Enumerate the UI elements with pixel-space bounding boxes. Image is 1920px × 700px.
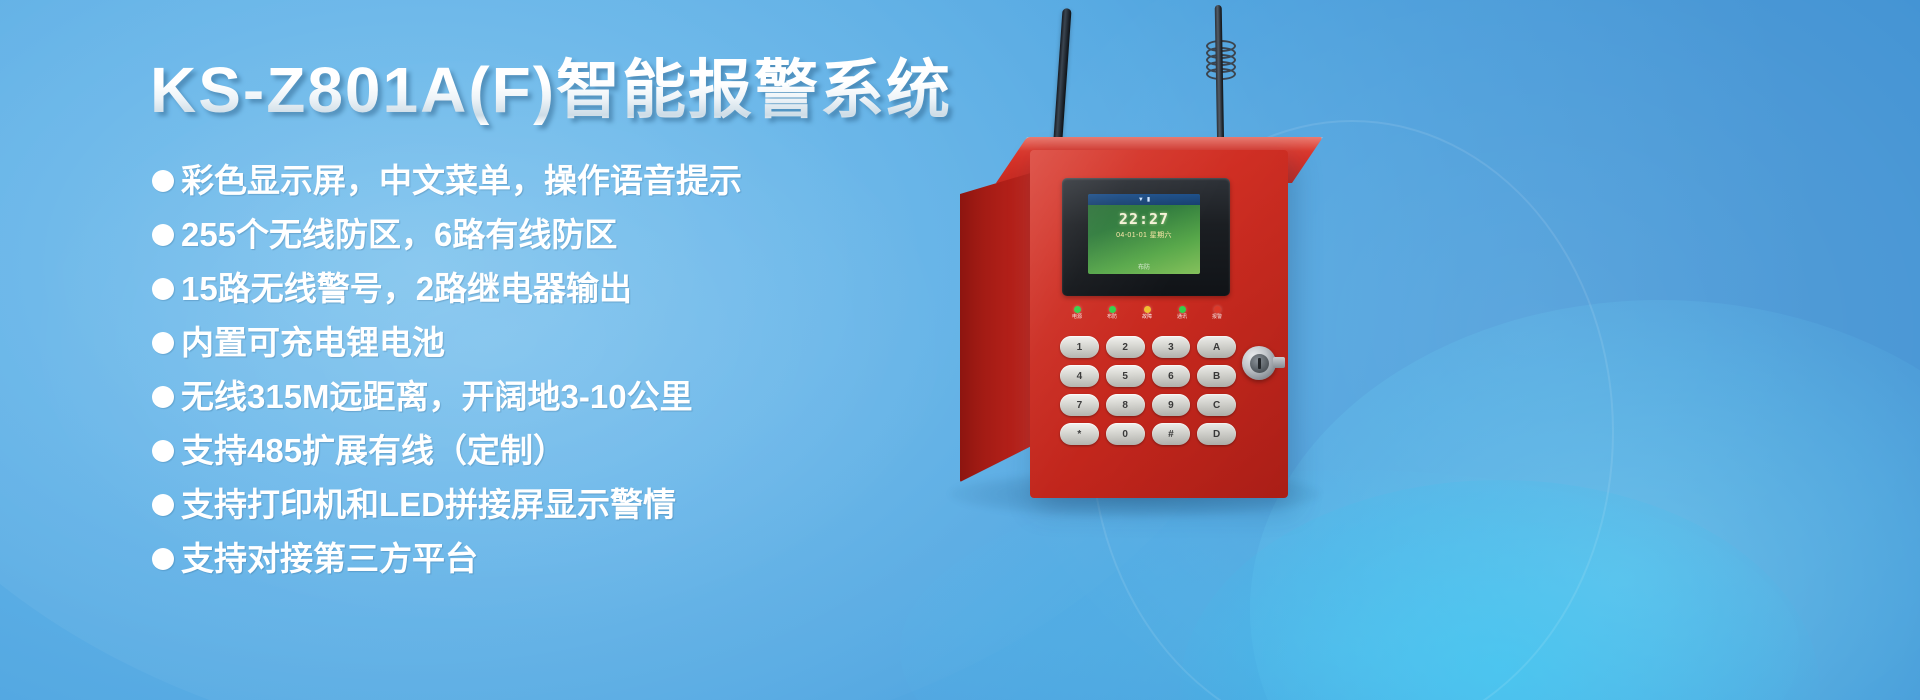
keypad-key[interactable]: # — [1152, 423, 1191, 445]
alarm-control-panel: ▼ ▮ 22:27 04-01-01 星期六 布防 电源 布防 — [930, 0, 1920, 700]
bullet-dot-icon — [152, 224, 174, 246]
panel-side-face — [960, 172, 1034, 482]
signal-icon: ▼ — [1138, 197, 1144, 203]
led-label: 通讯 — [1177, 315, 1187, 320]
text-content: KS-Z801A(F)智能报警系统 彩色显示屏，中文菜单，操作语音提示 255个… — [0, 0, 1000, 700]
keypad-key[interactable]: 6 — [1152, 365, 1191, 387]
led-lamp-icon — [1074, 306, 1081, 313]
bullet-dot-icon — [152, 170, 174, 192]
panel-front-face: ▼ ▮ 22:27 04-01-01 星期六 布防 电源 布防 — [1030, 150, 1288, 498]
list-item: 内置可充电锂电池 — [152, 320, 972, 365]
list-item: 支持对接第三方平台 — [152, 536, 972, 581]
led-indicator: 通讯 — [1169, 306, 1195, 320]
led-indicator-row: 电源 布防 故障 通讯 报警 — [1064, 306, 1230, 320]
led-label: 报警 — [1212, 315, 1222, 320]
lcd-time: 22:27 — [1088, 210, 1200, 228]
feature-label: 255个无线防区，6路有线防区 — [181, 212, 617, 257]
lock-icon[interactable] — [1242, 346, 1276, 380]
antenna-right — [1215, 5, 1225, 155]
list-item: 15路无线警号，2路继电器输出 — [152, 266, 972, 311]
list-item: 支持打印机和LED拼接屏显示警情 — [152, 482, 972, 527]
feature-label: 无线315M远距离，开阔地3-10公里 — [181, 374, 693, 419]
keypad-key[interactable]: 2 — [1106, 336, 1145, 358]
led-lamp-icon — [1144, 306, 1151, 313]
feature-label: 支持485扩展有线（定制） — [181, 428, 566, 473]
lock-tab — [1273, 357, 1285, 368]
list-item: 255个无线防区，6路有线防区 — [152, 212, 972, 257]
keypad-key[interactable]: C — [1197, 394, 1236, 416]
led-lamp-icon — [1109, 306, 1116, 313]
led-label: 电源 — [1072, 315, 1082, 320]
keypad-key[interactable]: 3 — [1152, 336, 1191, 358]
feature-label: 支持对接第三方平台 — [181, 536, 478, 581]
bullet-dot-icon — [152, 494, 174, 516]
keypad-key[interactable]: 8 — [1106, 394, 1145, 416]
battery-icon: ▮ — [1147, 197, 1150, 203]
keypad-key[interactable]: 9 — [1152, 394, 1191, 416]
list-item: 彩色显示屏，中文菜单，操作语音提示 — [152, 158, 972, 203]
keypad-key[interactable]: D — [1197, 423, 1236, 445]
feature-label: 支持打印机和LED拼接屏显示警情 — [181, 482, 676, 527]
lcd-status-bar: ▼ ▮ — [1088, 194, 1200, 205]
keypad-key[interactable]: 4 — [1060, 365, 1099, 387]
screen-bezel: ▼ ▮ 22:27 04-01-01 星期六 布防 — [1062, 178, 1230, 296]
bullet-dot-icon — [152, 332, 174, 354]
feature-label: 内置可充电锂电池 — [181, 320, 445, 365]
led-indicator: 电源 — [1064, 306, 1090, 320]
keypad-key[interactable]: 0 — [1106, 423, 1145, 445]
keypad: 1 2 3 A 4 5 6 B 7 8 9 C * 0 # D — [1060, 336, 1236, 445]
list-item: 无线315M远距离，开阔地3-10公里 — [152, 374, 972, 419]
bullet-dot-icon — [152, 440, 174, 462]
keypad-key[interactable]: * — [1060, 423, 1099, 445]
bullet-dot-icon — [152, 548, 174, 570]
keypad-key[interactable]: 5 — [1106, 365, 1145, 387]
bullet-dot-icon — [152, 386, 174, 408]
led-indicator: 报警 — [1204, 306, 1230, 320]
list-item: 支持485扩展有线（定制） — [152, 428, 972, 473]
keypad-key[interactable]: A — [1197, 336, 1236, 358]
lcd-screen[interactable]: ▼ ▮ 22:27 04-01-01 星期六 布防 — [1088, 194, 1200, 274]
feature-list: 彩色显示屏，中文菜单，操作语音提示 255个无线防区，6路有线防区 15路无线警… — [152, 158, 972, 590]
led-label: 故障 — [1142, 315, 1152, 320]
panel-top-highlight — [1018, 137, 1323, 151]
lock-cylinder — [1250, 354, 1269, 373]
led-lamp-icon — [1179, 306, 1186, 313]
lcd-footer: 布防 — [1088, 262, 1200, 271]
page-title: KS-Z801A(F)智能报警系统 — [150, 55, 952, 125]
feature-label: 15路无线警号，2路继电器输出 — [181, 266, 632, 311]
keypad-key[interactable]: 7 — [1060, 394, 1099, 416]
led-indicator: 故障 — [1134, 306, 1160, 320]
led-indicator: 布防 — [1099, 306, 1125, 320]
led-lamp-icon — [1214, 306, 1221, 313]
promo-banner: KS-Z801A(F)智能报警系统 彩色显示屏，中文菜单，操作语音提示 255个… — [0, 0, 1920, 700]
keypad-key[interactable]: 1 — [1060, 336, 1099, 358]
led-label: 布防 — [1107, 315, 1117, 320]
lock-keyhole — [1258, 358, 1261, 369]
feature-label: 彩色显示屏，中文菜单，操作语音提示 — [181, 158, 742, 203]
keypad-key[interactable]: B — [1197, 365, 1236, 387]
lcd-date: 04-01-01 星期六 — [1088, 230, 1200, 240]
bullet-dot-icon — [152, 278, 174, 300]
